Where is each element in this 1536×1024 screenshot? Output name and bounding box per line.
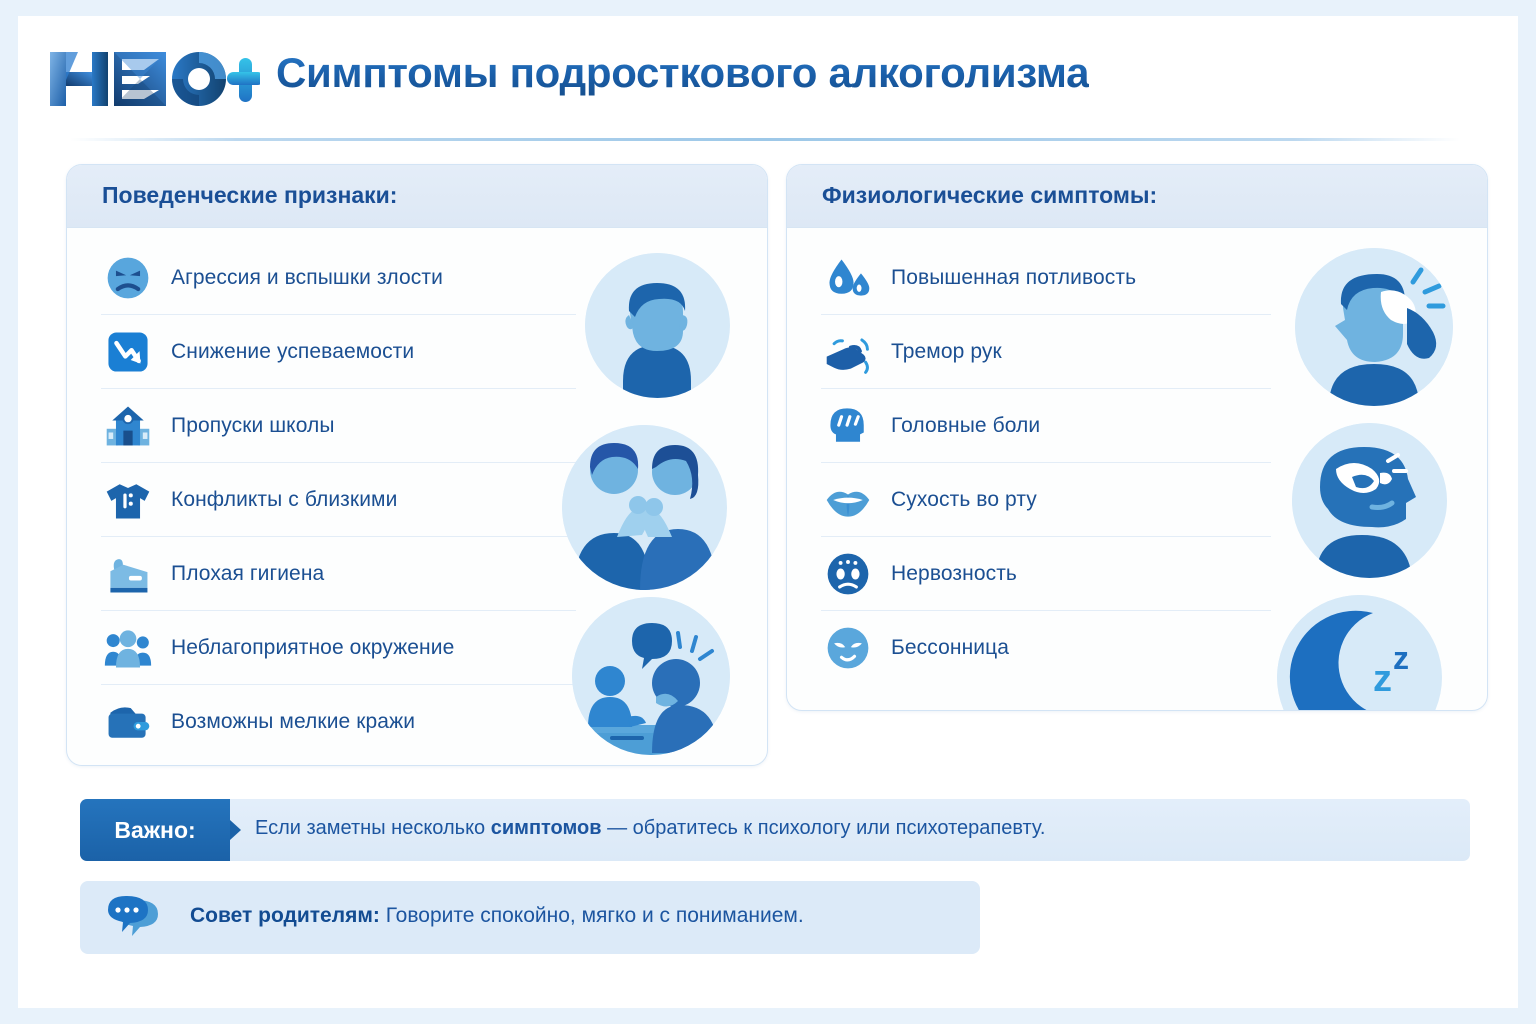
list-item[interactable]: Неблагоприятное окружение bbox=[101, 611, 576, 685]
list-item[interactable]: Повышенная потливость bbox=[821, 241, 1271, 315]
list-item-label: Плохая гигиена bbox=[171, 562, 324, 586]
wallet-icon bbox=[101, 695, 155, 749]
list-item[interactable]: Снижение успеваемости bbox=[101, 315, 576, 389]
svg-text:z: z bbox=[1373, 658, 1392, 700]
head-pain-icon bbox=[821, 399, 875, 453]
important-text-after: — обратитесь к психологу или психотерапе… bbox=[602, 817, 1046, 839]
list-item[interactable]: Бессонница bbox=[821, 611, 1271, 685]
list-item[interactable]: Возможны мелкие кражи bbox=[101, 685, 576, 759]
badge-arrow-icon bbox=[230, 820, 241, 840]
list-item-label: Снижение успеваемости bbox=[171, 340, 414, 364]
important-banner-text: Если заметны несколько симптомов — обрат… bbox=[255, 817, 1045, 840]
tshirt-icon bbox=[101, 473, 155, 527]
poster-header: Симптомы подросткового алкоголизма bbox=[48, 38, 1468, 146]
physiological-card-title: Физиологические симптомы: bbox=[822, 182, 1157, 209]
important-text-bold: симптомов bbox=[491, 817, 602, 839]
chat-bubbles-icon bbox=[106, 894, 166, 942]
worried-face-icon bbox=[821, 547, 875, 601]
parent-talk-illustration bbox=[572, 597, 730, 755]
lips-icon bbox=[821, 473, 875, 527]
behavioral-signs-card: Поведенческие признаки: Агрессия и вспыш… bbox=[66, 164, 768, 766]
list-item-label: Головные боли bbox=[891, 414, 1040, 438]
list-item-label: Нервозность bbox=[891, 562, 1017, 586]
list-item-label: Сухость во рту bbox=[891, 488, 1037, 512]
neo-plus-logo bbox=[48, 46, 260, 112]
important-banner: Важно: Если заметны несколько симптомов … bbox=[80, 799, 1470, 861]
behavioral-card-header: Поведенческие признаки: bbox=[67, 165, 767, 228]
list-item[interactable]: Тремор рук bbox=[821, 315, 1271, 389]
headache-illustration bbox=[1295, 248, 1453, 406]
list-item[interactable]: Плохая гигиена bbox=[101, 537, 576, 611]
important-badge-label: Важно: bbox=[114, 817, 195, 844]
list-item[interactable]: Сухость во рту bbox=[821, 463, 1271, 537]
list-item[interactable]: Головные боли bbox=[821, 389, 1271, 463]
list-item-label: Повышенная потливость bbox=[891, 266, 1136, 290]
infographic-poster: Симптомы подросткового алкоголизма Повед… bbox=[18, 16, 1518, 1008]
chart-down-icon bbox=[101, 325, 155, 379]
list-item-label: Бессонница bbox=[891, 636, 1009, 660]
svg-text:z: z bbox=[1393, 640, 1409, 676]
list-item[interactable]: Конфликты с близкими bbox=[101, 463, 576, 537]
list-item-label: Агрессия и вспышки злости bbox=[171, 266, 443, 290]
advice-banner-text: Совет родителям: Говорите спокойно, мягк… bbox=[190, 904, 804, 928]
page-title: Симптомы подросткового алкоголизма bbox=[276, 49, 1089, 97]
group-people-icon bbox=[101, 621, 155, 675]
list-item-label: Пропуски школы bbox=[171, 414, 335, 438]
advice-banner: Совет родителям: Говорите спокойно, мягк… bbox=[80, 881, 980, 954]
advice-body: Говорите спокойно, мягко и с пониманием. bbox=[380, 904, 804, 927]
teen-portrait-illustration bbox=[585, 253, 730, 398]
tired-face-icon bbox=[821, 621, 875, 675]
list-item-label: Возможны мелкие кражи bbox=[171, 710, 415, 734]
list-item-label: Неблагоприятное окружение bbox=[171, 636, 454, 660]
advice-label: Совет родителям: bbox=[190, 904, 380, 927]
angry-face-icon bbox=[101, 251, 155, 305]
physiological-symptoms-card: Физиологические симптомы: Повышенная пот… bbox=[786, 164, 1488, 711]
list-item-label: Конфликты с близкими bbox=[171, 488, 397, 512]
list-item[interactable]: Пропуски школы bbox=[101, 389, 576, 463]
list-item-label: Тремор рук bbox=[891, 340, 1002, 364]
water-drops-icon bbox=[821, 251, 875, 305]
dizziness-head-illustration bbox=[1292, 423, 1447, 578]
behavioral-card-title: Поведенческие признаки: bbox=[102, 182, 397, 209]
family-conflict-illustration bbox=[562, 425, 727, 590]
list-item[interactable]: Нервозность bbox=[821, 537, 1271, 611]
header-divider bbox=[70, 138, 1460, 141]
important-badge: Важно: bbox=[80, 799, 230, 861]
soap-icon bbox=[101, 547, 155, 601]
school-building-icon bbox=[101, 399, 155, 453]
important-text-before: Если заметны несколько bbox=[255, 817, 491, 839]
physiological-card-header: Физиологические симптомы: bbox=[787, 165, 1487, 228]
shaking-hand-icon bbox=[821, 325, 875, 379]
list-item[interactable]: Агрессия и вспышки злости bbox=[101, 241, 576, 315]
